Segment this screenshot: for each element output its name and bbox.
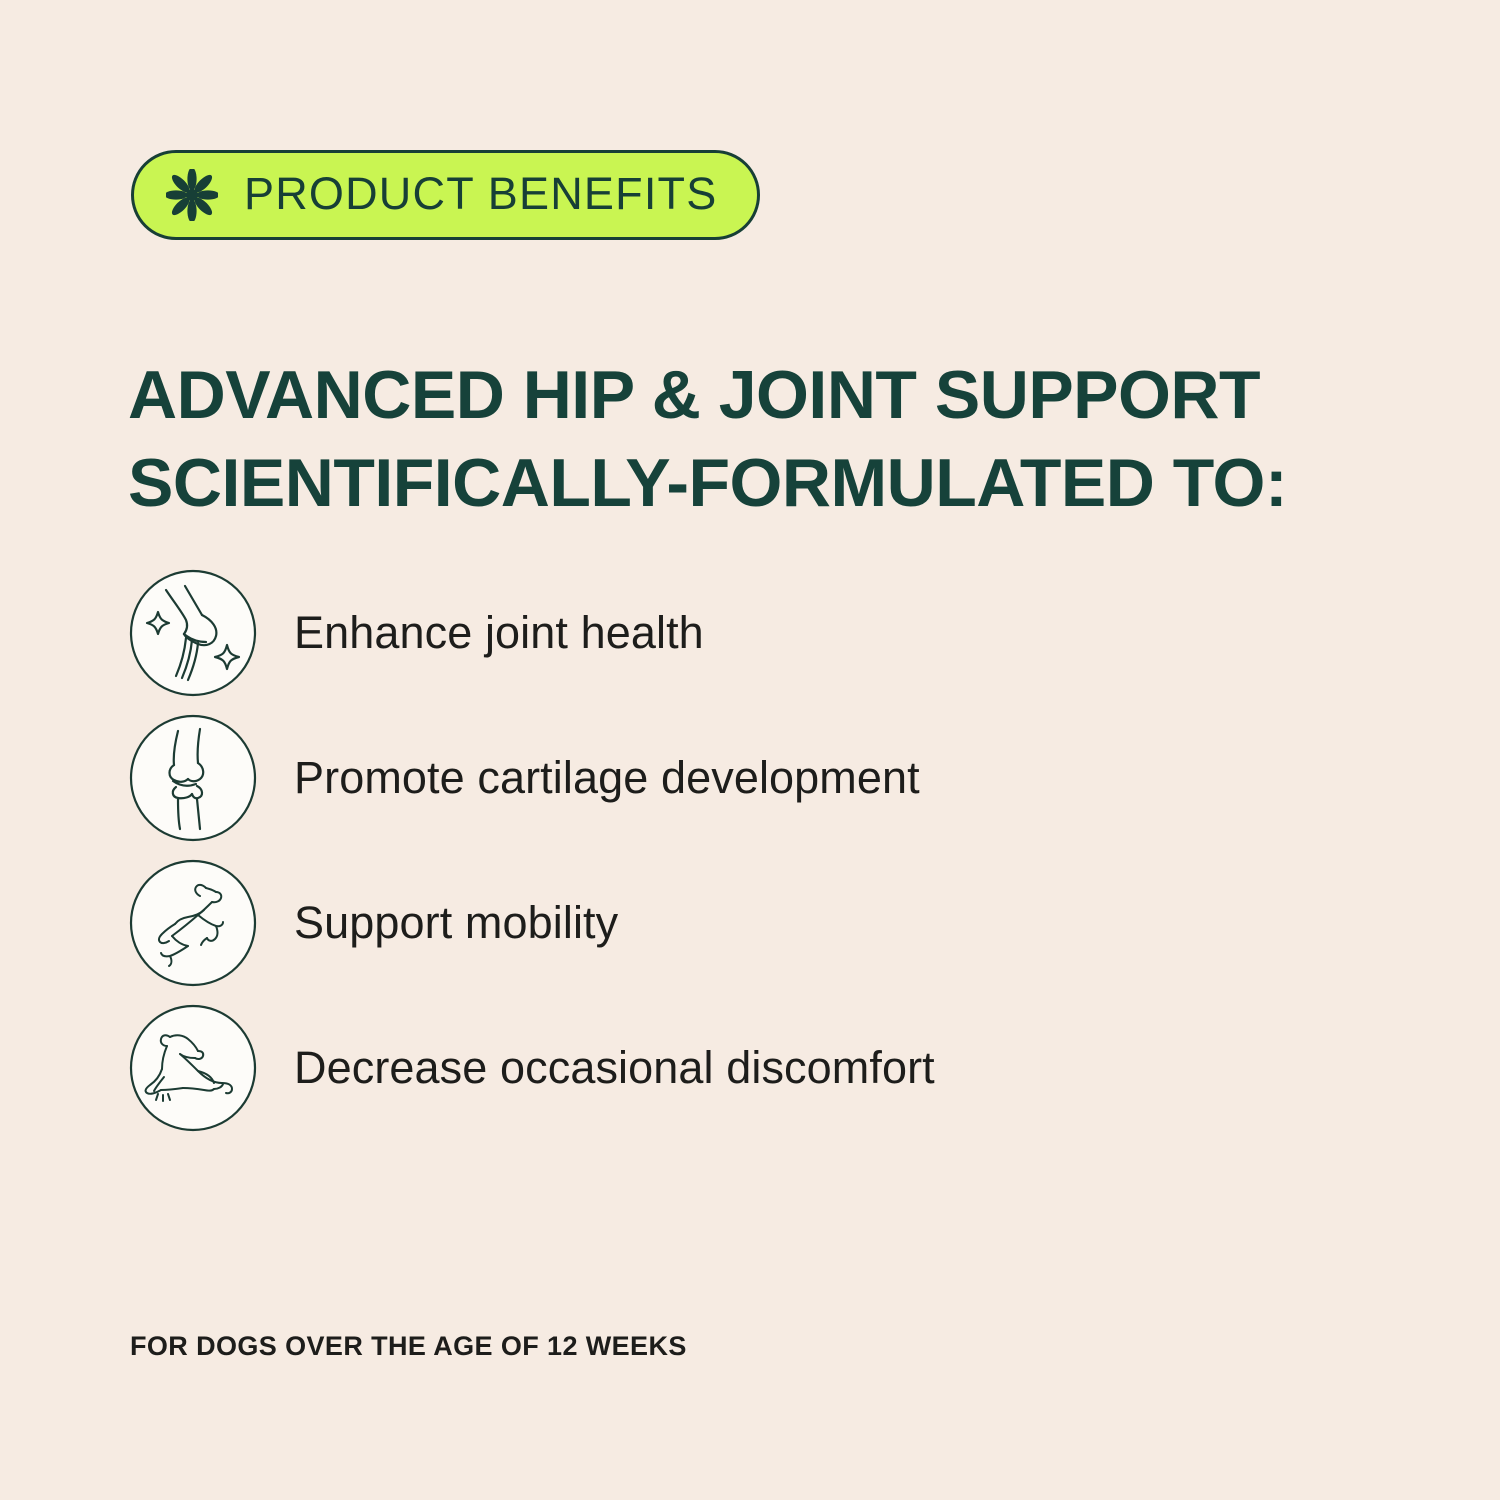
headline-line-1: ADVANCED HIP & JOINT SUPPORT (128, 351, 1388, 439)
list-item: Promote cartilage development (128, 705, 1378, 850)
list-item: Support mobility (128, 850, 1378, 995)
list-item-label: Support mobility (294, 897, 618, 949)
knee-cartilage-icon (128, 713, 258, 843)
product-benefits-panel: PRODUCT BENEFITS ADVANCED HIP & JOINT SU… (0, 0, 1500, 1500)
asterisk-icon (166, 169, 218, 221)
badge-label: PRODUCT BENEFITS (244, 171, 717, 219)
leaping-dog-icon (128, 858, 258, 988)
page-title: ADVANCED HIP & JOINT SUPPORT SCIENTIFICA… (128, 351, 1388, 527)
joint-sparkle-icon (128, 568, 258, 698)
resting-dog-icon (128, 1003, 258, 1133)
list-item-label: Enhance joint health (294, 607, 704, 659)
age-disclaimer: FOR DOGS OVER THE AGE OF 12 WEEKS (130, 1330, 687, 1362)
benefits-list: Enhance joint health (128, 560, 1378, 1140)
list-item-label: Decrease occasional discomfort (294, 1042, 935, 1094)
list-item: Decrease occasional discomfort (128, 995, 1378, 1140)
list-item-label: Promote cartilage development (294, 752, 920, 804)
product-benefits-badge: PRODUCT BENEFITS (131, 150, 760, 240)
headline-line-2: SCIENTIFICALLY-FORMULATED TO: (128, 439, 1388, 527)
list-item: Enhance joint health (128, 560, 1378, 705)
